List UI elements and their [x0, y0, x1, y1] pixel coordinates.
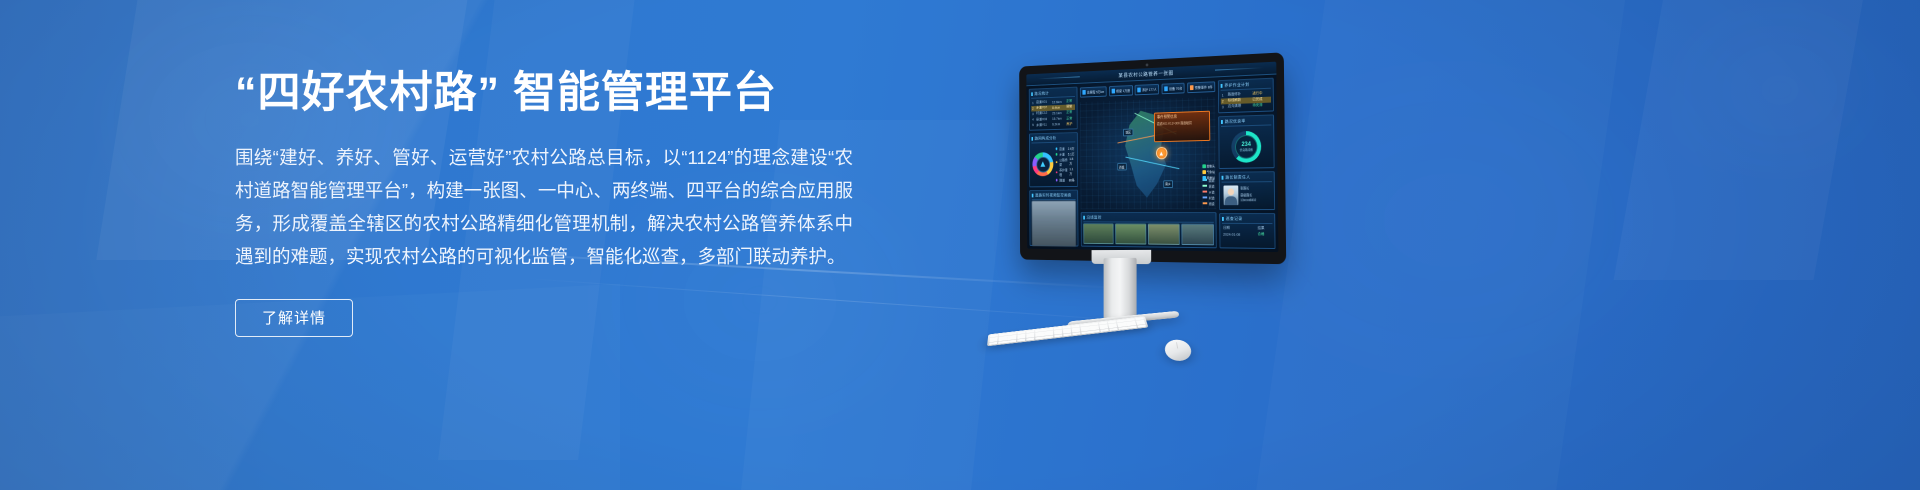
- hero-banner: “四好农村路” 智能管理平台 围绕“建好、养好、管好、运营好”农村公路总目标，以…: [0, 0, 1920, 490]
- stat-card[interactable]: 设备 76台: [1162, 83, 1185, 95]
- legend-label: 公路桥梁: [1059, 157, 1068, 166]
- avatar: [1224, 185, 1239, 205]
- table-row: 5 乡道Y11 6.2km 养护: [1031, 121, 1075, 128]
- keyboard[interactable]: [987, 316, 1148, 346]
- map-icon-label: 气象站: [1207, 170, 1215, 174]
- map-icon-item: 称重站: [1202, 176, 1215, 180]
- legend-dot-icon: [1056, 179, 1058, 181]
- legend-value: 1.1万: [1069, 168, 1074, 176]
- legend-value: 1.8万: [1069, 158, 1074, 166]
- stat-label: 设备 76台: [1169, 86, 1182, 91]
- road-stats-panel: 路况统计 1 县道X01 12.6km 正常 2 乡: [1029, 87, 1078, 132]
- legend-label: 养护里程: [1059, 167, 1068, 176]
- road-chief-panel: 路长制责任人 张路长 县级路长 13xxxx8802: [1219, 171, 1275, 210]
- quality-gauge-panel: 路况优良率 234 优良路段数: [1218, 114, 1274, 168]
- hero-description-text: 围绕“建好、养好、管好、运营好”农村公路总目标，以“1124”的理念建设“农村道…: [235, 141, 853, 273]
- stat-card[interactable]: 桥梁 1万座: [1109, 85, 1133, 96]
- legend-dot-icon: [1056, 153, 1058, 155]
- cell: 6.2km: [1051, 122, 1065, 128]
- road-chief-role: 县级路长: [1240, 192, 1270, 197]
- gis-map[interactable]: 城区 西镇 南乡 事件预警信息 县道X01 K12+300 路面破损 国道: [1080, 97, 1217, 209]
- legend-value: 5.1万: [1068, 152, 1075, 157]
- legend-item: 村道: [1203, 195, 1215, 200]
- hero-description: 围绕“建好、养好、管好、运营好”农村公路总目标，以“1124”的理念建设“农村道…: [235, 141, 853, 273]
- table-row: 2024-01-08 合格: [1222, 231, 1272, 238]
- thumbnail[interactable]: [1181, 224, 1214, 246]
- weather-station-icon[interactable]: [1202, 170, 1206, 174]
- legend-label: 隧道: [1059, 178, 1065, 183]
- thumbnail-strip-panel: 沿线监控: [1081, 212, 1217, 249]
- legend-label: 桥梁: [1209, 201, 1215, 206]
- map-pin[interactable]: 西镇: [1117, 163, 1127, 171]
- thumbnail[interactable]: [1148, 224, 1180, 245]
- learn-more-button[interactable]: 了解详情: [235, 299, 353, 337]
- legend-dot-icon: [1056, 148, 1058, 150]
- legend-item: 养护里程1.1万: [1056, 167, 1075, 177]
- inspection-log-panel: 巡查记录 日期 结果 2024-01-08 合格: [1219, 213, 1275, 249]
- legend-item: 乡道5.1万: [1056, 152, 1075, 157]
- stat-card[interactable]: 预警事件 8件: [1187, 81, 1215, 93]
- map-legend: 国道 县道 乡道 村道 桥梁: [1203, 177, 1215, 205]
- legend-value: 2.6万: [1068, 146, 1075, 151]
- legend-item: 公路桥梁1.8万: [1056, 157, 1075, 167]
- road-chief-name: 张路长: [1240, 185, 1270, 190]
- legend-label: 乡道: [1209, 189, 1215, 194]
- cell: 养护: [1066, 121, 1076, 127]
- warning-triangle-icon: [1160, 151, 1164, 155]
- monitor: 某县农村公路管养一张图 路况统计 1 县道X01 12.6km 正常: [1019, 52, 1286, 264]
- monitor-stand: [1104, 258, 1137, 320]
- cell: 边沟清理: [1227, 103, 1252, 110]
- legend-item: 乡道: [1203, 189, 1215, 194]
- legend-label: 县道: [1209, 183, 1215, 188]
- nav-triangle-icon: [1040, 162, 1045, 168]
- legend-item: 隧道86条: [1056, 178, 1075, 183]
- alert-icon: [1190, 85, 1194, 90]
- device-icon: [1164, 86, 1168, 91]
- stat-card[interactable]: 养护 177人: [1135, 84, 1160, 96]
- legend-bar-icon: [1203, 191, 1208, 192]
- map-pin[interactable]: 城区: [1123, 128, 1133, 136]
- alert-map-marker[interactable]: [1156, 147, 1168, 160]
- thumbnail[interactable]: [1115, 223, 1146, 244]
- legend-item: 县道: [1203, 183, 1215, 188]
- legend-value: 86条: [1069, 178, 1075, 183]
- worker-icon: [1137, 88, 1140, 93]
- page-title: “四好农村路” 智能管理平台: [235, 68, 895, 119]
- legend-item: 县道2.6万: [1056, 146, 1075, 151]
- video-feed: [1032, 201, 1076, 246]
- road-chief-header: 路长制责任人: [1222, 174, 1272, 182]
- bridge-icon: [1111, 89, 1114, 94]
- cell: 乡道Y11: [1035, 122, 1051, 128]
- stat-label: 总里程 5万km: [1087, 89, 1105, 94]
- quality-gauge-header: 路况优良率: [1221, 118, 1271, 127]
- inspection-log-header: 巡查记录: [1222, 216, 1272, 224]
- road-network-donut-panel: 路网构成分析 县道2.6万 乡道5.1万 公路桥梁1.8万 养护里程1.1万 隧…: [1029, 132, 1078, 187]
- donut-chart: [1032, 153, 1053, 177]
- road-stats-table: 1 县道X01 12.6km 正常 2 乡道Y07 8.4km 预警: [1031, 98, 1075, 128]
- legend-bar-icon: [1203, 203, 1208, 204]
- legend-dot-icon: [1056, 171, 1058, 173]
- table-row: 3 边沟清理 待安排: [1221, 102, 1271, 110]
- desktop-computer-illustration: 某县农村公路管养一张图 路况统计 1 县道X01 12.6km 正常: [975, 52, 1305, 362]
- alert-callout: 事件预警信息 县道X01 K12+300 路面破损: [1154, 110, 1210, 141]
- dashboard-screen: 某县农村公路管养一张图 路况统计 1 县道X01 12.6km 正常: [1026, 62, 1278, 252]
- stat-label: 养护 177人: [1142, 87, 1157, 92]
- maintenance-plan-header: 养护作业计划: [1221, 81, 1271, 91]
- road-network-header: 路网构成分析: [1031, 135, 1075, 144]
- mouse[interactable]: [1163, 339, 1193, 362]
- thumbnail-strip-header: 沿线监控: [1083, 214, 1214, 222]
- gauge-chart: 234 优良路段数: [1231, 130, 1261, 162]
- legend-bar-icon: [1203, 197, 1208, 198]
- map-device-icons: 摄像头 气象站 称重站: [1202, 164, 1215, 180]
- road-icon: [1082, 90, 1085, 95]
- gauge-unit: 优良路段数: [1240, 147, 1253, 151]
- legend-bar-icon: [1203, 185, 1208, 186]
- webcam-icon: [1145, 63, 1148, 66]
- road-stats-header: 路况统计: [1031, 90, 1075, 99]
- cell: 2024-01-08: [1222, 231, 1257, 237]
- cell: 待安排: [1252, 102, 1272, 109]
- inspection-log-table: 日期 结果 2024-01-08 合格: [1222, 225, 1272, 238]
- stat-card[interactable]: 总里程 5万km: [1080, 86, 1107, 97]
- map-icon-item: 气象站: [1202, 170, 1215, 174]
- legend-label: 县道: [1059, 146, 1065, 151]
- maintenance-plan-panel: 养护作业计划 1 路面修补 进行中 2 标线刷新 已: [1218, 78, 1274, 114]
- stat-label: 桥梁 1万座: [1116, 88, 1130, 93]
- legend-dot-icon: [1056, 161, 1058, 163]
- legend-label: 乡道: [1059, 152, 1065, 157]
- kpi-stat-row: 总里程 5万km 桥梁 1万座 养护 177人 设备 76台 预警事件 8件: [1080, 80, 1216, 99]
- camera-icon[interactable]: [1202, 164, 1206, 168]
- map-icon-item: 摄像头: [1202, 164, 1215, 168]
- donut-legend: 县道2.6万 乡道5.1万 公路桥梁1.8万 养护里程1.1万 隧道86条: [1056, 146, 1075, 182]
- cell: 合格: [1257, 232, 1273, 238]
- alert-callout-body: 县道X01 K12+300 路面破损: [1157, 120, 1207, 126]
- video-monitor-panel: 道路实时视频监控画面: [1029, 190, 1078, 247]
- thumbnail[interactable]: [1083, 223, 1113, 244]
- map-pin[interactable]: 南乡: [1163, 180, 1173, 188]
- maintenance-plan-table: 1 路面修补 进行中 2 标线刷新 已完成 3: [1221, 90, 1271, 110]
- video-monitor-header: 道路实时视频监控画面: [1032, 192, 1076, 200]
- legend-item: 桥梁: [1203, 201, 1215, 206]
- map-icon-label: 摄像头: [1207, 164, 1215, 168]
- hero-content: “四好农村路” 智能管理平台 围绕“建好、养好、管好、运营好”农村公路总目标，以…: [235, 68, 895, 337]
- legend-label: 村道: [1209, 195, 1215, 200]
- weigh-station-icon[interactable]: [1202, 176, 1206, 180]
- road-chief-contact: 13xxxx8802: [1240, 198, 1270, 202]
- stat-label: 预警事件 8件: [1195, 84, 1213, 90]
- alert-callout-title: 事件预警信息: [1157, 113, 1207, 119]
- map-icon-label: 称重站: [1207, 176, 1215, 180]
